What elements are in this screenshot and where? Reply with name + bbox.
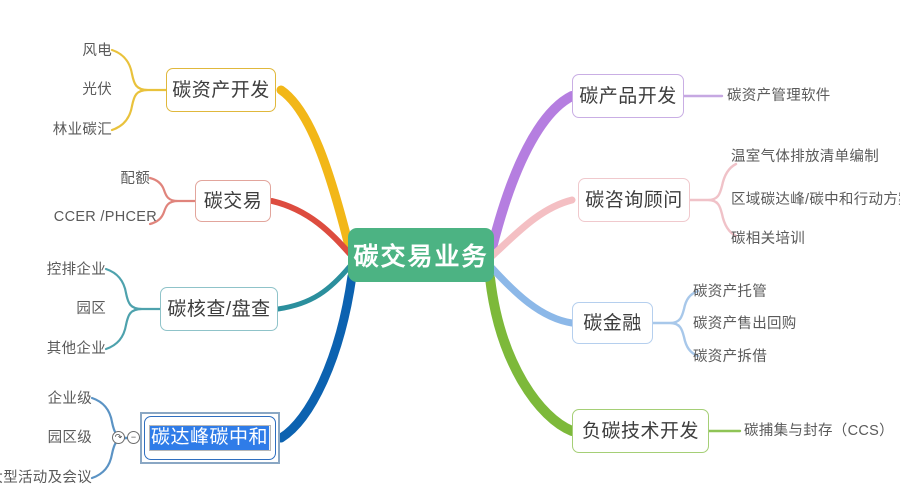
selected-node-carbon-peak-neutral[interactable]: 碳达峰碳中和 (140, 412, 280, 464)
leaf-carbon-asset-development-2[interactable]: 林业碳汇 (53, 123, 112, 138)
leaf-carbon-asset-development-0[interactable]: 风电 (82, 44, 112, 59)
subtree-connector-carbon-verification (106, 269, 160, 349)
branch-node-label: 碳核查/盘查 (167, 300, 270, 319)
leaf-carbon-consulting-1[interactable]: 区域碳达峰/碳中和行动方案 (731, 193, 900, 208)
branch-curve-carbon-asset-development (281, 90, 350, 250)
branch-node-carbon-trading[interactable]: 碳交易 (195, 180, 271, 222)
leaf-carbon-consulting-0[interactable]: 温室气体排放清单编制 (731, 150, 879, 165)
branch-curve-carbon-product-development (492, 96, 572, 248)
node-text-input[interactable]: 碳达峰碳中和 (149, 425, 271, 451)
leaf-carbon-trading-1[interactable]: CCER /PHCER (54, 210, 157, 225)
branch-node-label: 碳金融 (583, 314, 642, 333)
branch-node-negative-carbon-tech[interactable]: 负碳技术开发 (572, 409, 709, 453)
rotate-icon[interactable]: ↷ (112, 431, 125, 444)
leaf-carbon-trading-0[interactable]: 配额 (120, 172, 150, 187)
branch-node-carbon-asset-development[interactable]: 碳资产开发 (166, 68, 276, 112)
mindmap-canvas: 碳交易业务 碳资产开发 风电 光伏 林业碳汇 碳交易 配额 CCER /PHCE… (0, 0, 900, 489)
leaf-carbon-finance-1[interactable]: 碳资产售出回购 (693, 317, 797, 332)
subtree-connector-carbon-asset-development (112, 50, 166, 130)
leaf-carbon-peak-neutral-0[interactable]: 企业级 (48, 392, 92, 407)
branch-curve-carbon-peak-neutral (281, 276, 352, 438)
leaf-carbon-finance-2[interactable]: 碳资产拆借 (693, 350, 767, 365)
leaf-carbon-asset-development-1[interactable]: 光伏 (82, 83, 112, 98)
branch-node-carbon-finance[interactable]: 碳金融 (572, 302, 653, 344)
leaf-carbon-product-development-0[interactable]: 碳资产管理软件 (727, 89, 831, 104)
branch-node-carbon-product-development[interactable]: 碳产品开发 (572, 74, 684, 118)
branch-node-label: 碳咨询顾问 (585, 191, 683, 210)
branch-node-label: 碳产品开发 (579, 87, 677, 106)
branch-node-label: 负碳技术开发 (582, 422, 699, 441)
minus-icon[interactable]: − (127, 431, 140, 444)
branch-node-carbon-verification[interactable]: 碳核查/盘查 (160, 287, 278, 331)
branch-node-label: 碳交易 (204, 192, 263, 211)
branch-curve-carbon-verification (278, 266, 350, 309)
branch-curve-negative-carbon-tech (490, 278, 572, 431)
root-node-label: 碳交易业务 (353, 237, 488, 273)
selected-node-inner: 碳达峰碳中和 (144, 416, 276, 460)
leaf-carbon-consulting-2[interactable]: 碳相关培训 (731, 232, 805, 247)
branch-node-label: 碳资产开发 (172, 81, 270, 100)
node-text-selection: 碳达峰碳中和 (150, 426, 269, 450)
branch-curve-carbon-finance (492, 268, 572, 323)
subtree-connector-carbon-finance (653, 291, 698, 356)
leaf-carbon-verification-2[interactable]: 其他企业 (47, 342, 106, 357)
leaf-carbon-peak-neutral-2[interactable]: 大型活动及会议 (0, 471, 92, 486)
leaf-carbon-peak-neutral-1[interactable]: 园区级 (48, 431, 92, 446)
leaf-negative-carbon-tech-0[interactable]: 碳捕集与封存（CCS） (744, 424, 894, 439)
leaf-carbon-verification-0[interactable]: 控排企业 (47, 263, 106, 278)
node-controls: ↷ − (112, 431, 140, 444)
leaf-carbon-verification-1[interactable]: 园区 (76, 302, 106, 317)
branch-curve-carbon-trading (272, 201, 350, 254)
subtree-connector-carbon-consulting (690, 164, 736, 236)
leaf-carbon-finance-0[interactable]: 碳资产托管 (693, 285, 767, 300)
branch-curve-carbon-consulting (492, 200, 572, 256)
root-node[interactable]: 碳交易业务 (348, 228, 494, 282)
branch-node-carbon-consulting[interactable]: 碳咨询顾问 (578, 178, 690, 222)
